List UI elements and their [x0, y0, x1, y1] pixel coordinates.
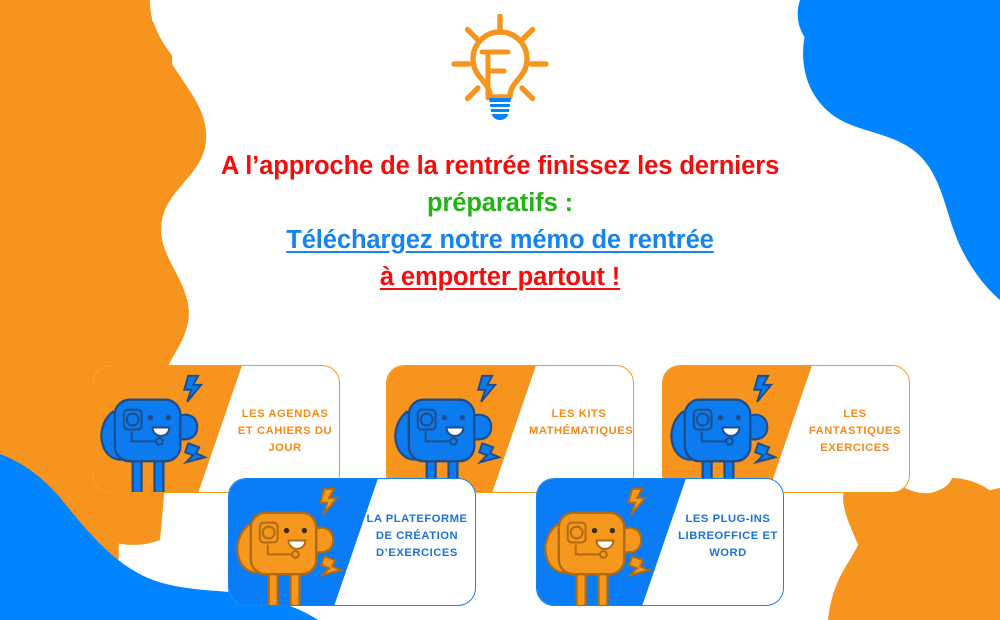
- robot-leg-left: [133, 457, 142, 493]
- card-label: LES PLUG-INS LIBREOFFICE ET WORD: [677, 511, 779, 562]
- ray-top-left: [468, 30, 479, 41]
- robot-mouth: [289, 540, 306, 548]
- card-plateforme-creation[interactable]: LA PLATEFORME DE CRÉATION D’EXERCICES: [228, 478, 476, 606]
- bulb-glass: [473, 32, 527, 97]
- lightbulb-icon: [444, 14, 556, 122]
- card-label: LA PLATEFORME DE CRÉATION D’EXERCICES: [363, 511, 471, 562]
- card-label: LES KITS MATHÉMATIQUES: [529, 406, 629, 440]
- poster-canvas: A l’approche de la rentrée finissez les …: [0, 0, 1000, 620]
- robot-leg-left: [269, 570, 278, 606]
- robot-headset-mic: [156, 438, 163, 445]
- headline-line-1: A l’approche de la rentrée finissez les …: [60, 148, 940, 185]
- robot-headset-mic: [726, 438, 733, 445]
- card-label: LES FANTASTIQUES EXERCICES: [803, 406, 907, 457]
- robot-body: [559, 513, 624, 574]
- robot-body: [685, 400, 750, 461]
- robot-eye-left: [718, 415, 723, 420]
- robot-body: [409, 400, 474, 461]
- headline-link-line-2[interactable]: à emporter partout !: [60, 259, 940, 296]
- robot-eye-left: [148, 415, 153, 420]
- robot-eye-left: [442, 415, 447, 420]
- robot-mouth: [447, 427, 464, 435]
- robot-leg-right: [290, 570, 299, 606]
- card-kits-mathematiques[interactable]: LES KITS MATHÉMATIQUES: [386, 365, 634, 493]
- robot-eye-left: [284, 528, 289, 533]
- card-agendas[interactable]: LES AGENDAS ET CAHIERS DU JOUR: [92, 365, 340, 493]
- robot-mouth: [597, 540, 614, 548]
- robot-mouth: [153, 427, 170, 435]
- robot-eye-right: [736, 415, 741, 420]
- robot-leg-left: [577, 570, 586, 606]
- headline-link-line-1[interactable]: Téléchargez notre mémo de rentrée: [60, 222, 940, 259]
- robot-eye-left: [592, 528, 597, 533]
- robot-leg-right: [598, 570, 607, 606]
- bulb-filament: [482, 52, 508, 98]
- ray-bottom-left: [468, 88, 479, 99]
- robot-eye-right: [302, 528, 307, 533]
- robot-headset-mic: [600, 551, 607, 558]
- card-plugins-libreoffice-word[interactable]: LES PLUG-INS LIBREOFFICE ET WORD: [536, 478, 784, 606]
- ray-bottom-right: [522, 88, 533, 99]
- headline-line-2: préparatifs :: [60, 185, 940, 222]
- robot-mouth: [723, 427, 740, 435]
- robot-body: [115, 400, 180, 461]
- card-label: LES AGENDAS ET CAHIERS DU JOUR: [235, 406, 335, 457]
- ray-top-right: [522, 30, 533, 41]
- robot-headset-mic: [450, 438, 457, 445]
- robot-body: [251, 513, 316, 574]
- card-exercices[interactable]: LES FANTASTIQUES EXERCICES: [662, 365, 910, 493]
- robot-eye-right: [460, 415, 465, 420]
- robot-eye-right: [610, 528, 615, 533]
- robot-headset-mic: [292, 551, 299, 558]
- robot-eye-right: [166, 415, 171, 420]
- headline-block: A l’approche de la rentrée finissez les …: [60, 148, 940, 296]
- robot-leg-right: [154, 457, 163, 493]
